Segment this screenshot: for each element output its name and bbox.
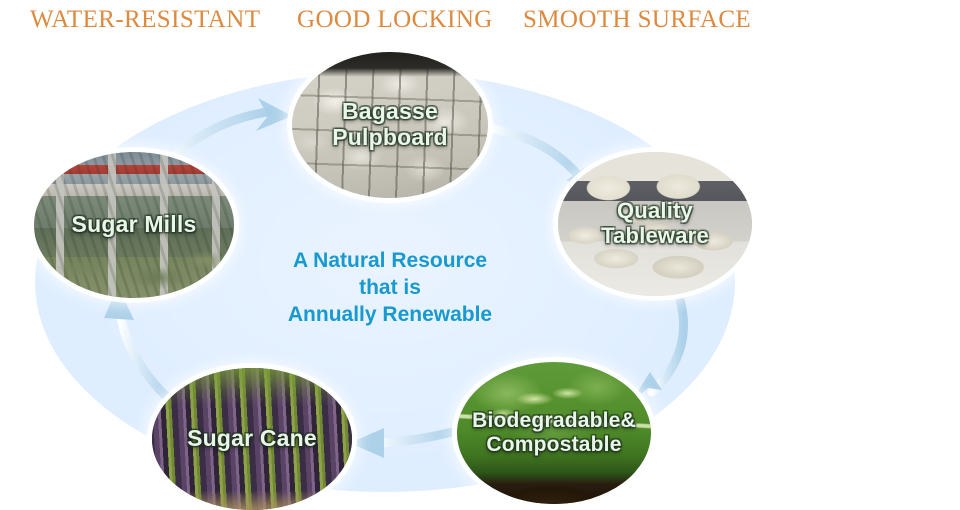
cycle-node-bagasse-pulpboard[interactable]: Bagasse Pulpboard	[292, 52, 488, 198]
cycle-node-label-bagasse: Bagasse Pulpboard	[328, 99, 452, 151]
feature-good-locking: GOOD LOCKING	[297, 6, 493, 34]
cycle-node-label-biodegradable: Biodegradable& Compostable	[468, 409, 640, 456]
feature-water-resistant: WATER-RESISTANT	[30, 6, 260, 34]
bagasse-lifecycle-infographic: WATER-RESISTANT GOOD LOCKING SMOOTH SURF…	[0, 0, 960, 510]
cycle-node-label-sugar-cane: Sugar Cane	[183, 426, 321, 452]
center-slogan: A Natural Resource that is Annually Rene…	[245, 248, 535, 329]
cycle-node-quality-tableware[interactable]: Quality Tableware	[558, 152, 752, 296]
cycle-node-biodegradable-compostable[interactable]: Biodegradable& Compostable	[457, 362, 651, 504]
cycle-node-sugar-cane[interactable]: Sugar Cane	[152, 368, 352, 510]
cycle-node-sugar-mills[interactable]: Sugar Mills	[34, 152, 234, 298]
cycle-node-label-sugar-mills: Sugar Mills	[68, 212, 201, 238]
cycle-node-label-tableware: Quality Tableware	[597, 199, 713, 248]
feature-smooth-surface: SMOOTH SURFACE	[523, 6, 751, 34]
feature-header-row: WATER-RESISTANT GOOD LOCKING SMOOTH SURF…	[0, 0, 960, 46]
